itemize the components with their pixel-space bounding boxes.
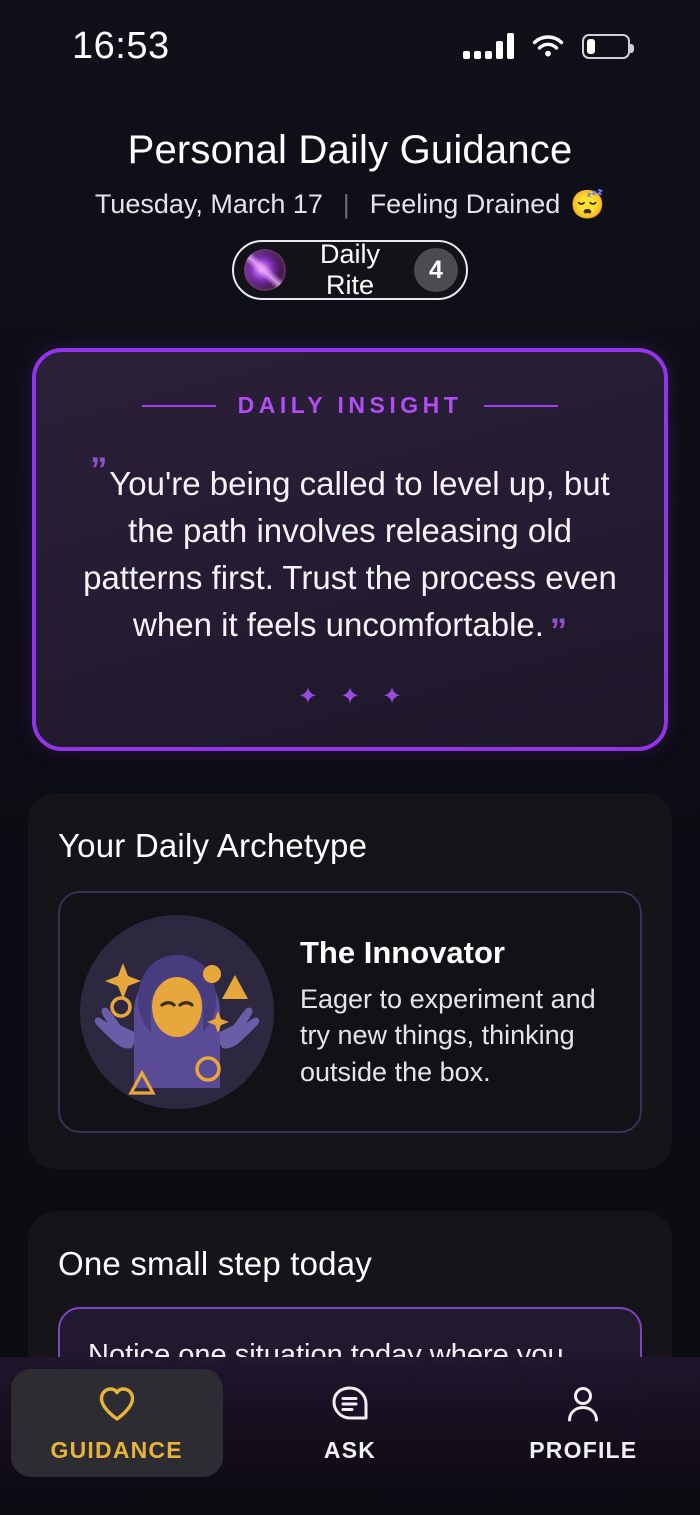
- eyebrow-label: DAILY INSIGHT: [238, 392, 463, 419]
- daily-rite-label: Daily Rite: [298, 239, 402, 301]
- bottom-navigation: GUIDANCE ASK PROFILE: [0, 1357, 700, 1515]
- daily-rite-pill[interactable]: Daily Rite 4: [232, 240, 468, 300]
- status-time: 16:53: [72, 25, 170, 68]
- signal-bars-icon: [463, 33, 514, 59]
- battery-low-icon: [582, 34, 630, 59]
- header-divider: |: [343, 189, 350, 220]
- nebula-orb-icon: [244, 249, 286, 291]
- hooded-figure-illustration: [80, 915, 274, 1109]
- eyebrow-line-right: [484, 405, 558, 407]
- small-step-section-title: One small step today: [58, 1245, 642, 1283]
- daily-insight-text-block: ”You're being called to level up, but th…: [66, 453, 634, 648]
- archetype-name: The Innovator: [300, 935, 614, 971]
- archetype-description: Eager to experiment and try new things, …: [300, 981, 614, 1090]
- page-header: Personal Daily Guidance Tuesday, March 1…: [0, 92, 700, 300]
- daily-insight-eyebrow: DAILY INSIGHT: [66, 392, 634, 419]
- nav-item-profile[interactable]: PROFILE: [477, 1369, 689, 1477]
- archetype-card[interactable]: The Innovator Eager to experiment and tr…: [58, 891, 642, 1133]
- nav-label-ask: ASK: [324, 1437, 376, 1464]
- nav-label-guidance: GUIDANCE: [51, 1437, 183, 1464]
- nav-item-guidance[interactable]: GUIDANCE: [11, 1369, 223, 1477]
- status-bar: 16:53: [0, 0, 700, 92]
- page-title: Personal Daily Guidance: [0, 128, 700, 173]
- heart-icon: [96, 1383, 138, 1425]
- sparkle-icon: ✦: [382, 682, 402, 711]
- nav-item-ask[interactable]: ASK: [244, 1369, 456, 1477]
- quote-open-icon: ”: [90, 451, 107, 489]
- sparkle-icon: ✦: [340, 682, 360, 711]
- header-date: Tuesday, March 17: [95, 189, 323, 220]
- app-screen: 16:53 Personal Daily Guidance Tuesday, M…: [0, 0, 700, 1515]
- archetype-section-title: Your Daily Archetype: [58, 827, 642, 865]
- archetype-section: Your Daily Archetype: [28, 793, 672, 1169]
- chat-lines-icon: [329, 1383, 371, 1425]
- person-icon: [562, 1383, 604, 1425]
- wifi-icon: [532, 34, 564, 58]
- daily-insight-text: You're being called to level up, but the…: [83, 465, 617, 643]
- eyebrow-line-left: [142, 405, 216, 407]
- header-subtitle: Tuesday, March 17 | Feeling Drained 😴: [0, 189, 700, 220]
- daily-insight-card[interactable]: DAILY INSIGHT ”You're being called to le…: [32, 348, 668, 751]
- sparkle-icon: ✦: [298, 682, 318, 711]
- sleeping-face-emoji-icon: 😴: [570, 191, 605, 219]
- nav-label-profile: PROFILE: [529, 1437, 637, 1464]
- quote-close-icon: ”: [550, 612, 567, 650]
- status-icons: [463, 33, 630, 59]
- mood-label: Feeling Drained: [370, 189, 561, 220]
- mood-indicator: Feeling Drained 😴: [370, 189, 605, 220]
- archetype-text: The Innovator Eager to experiment and tr…: [300, 935, 614, 1090]
- daily-rite-count-badge: 4: [414, 248, 458, 292]
- sparkle-divider: ✦ ✦ ✦: [66, 682, 634, 711]
